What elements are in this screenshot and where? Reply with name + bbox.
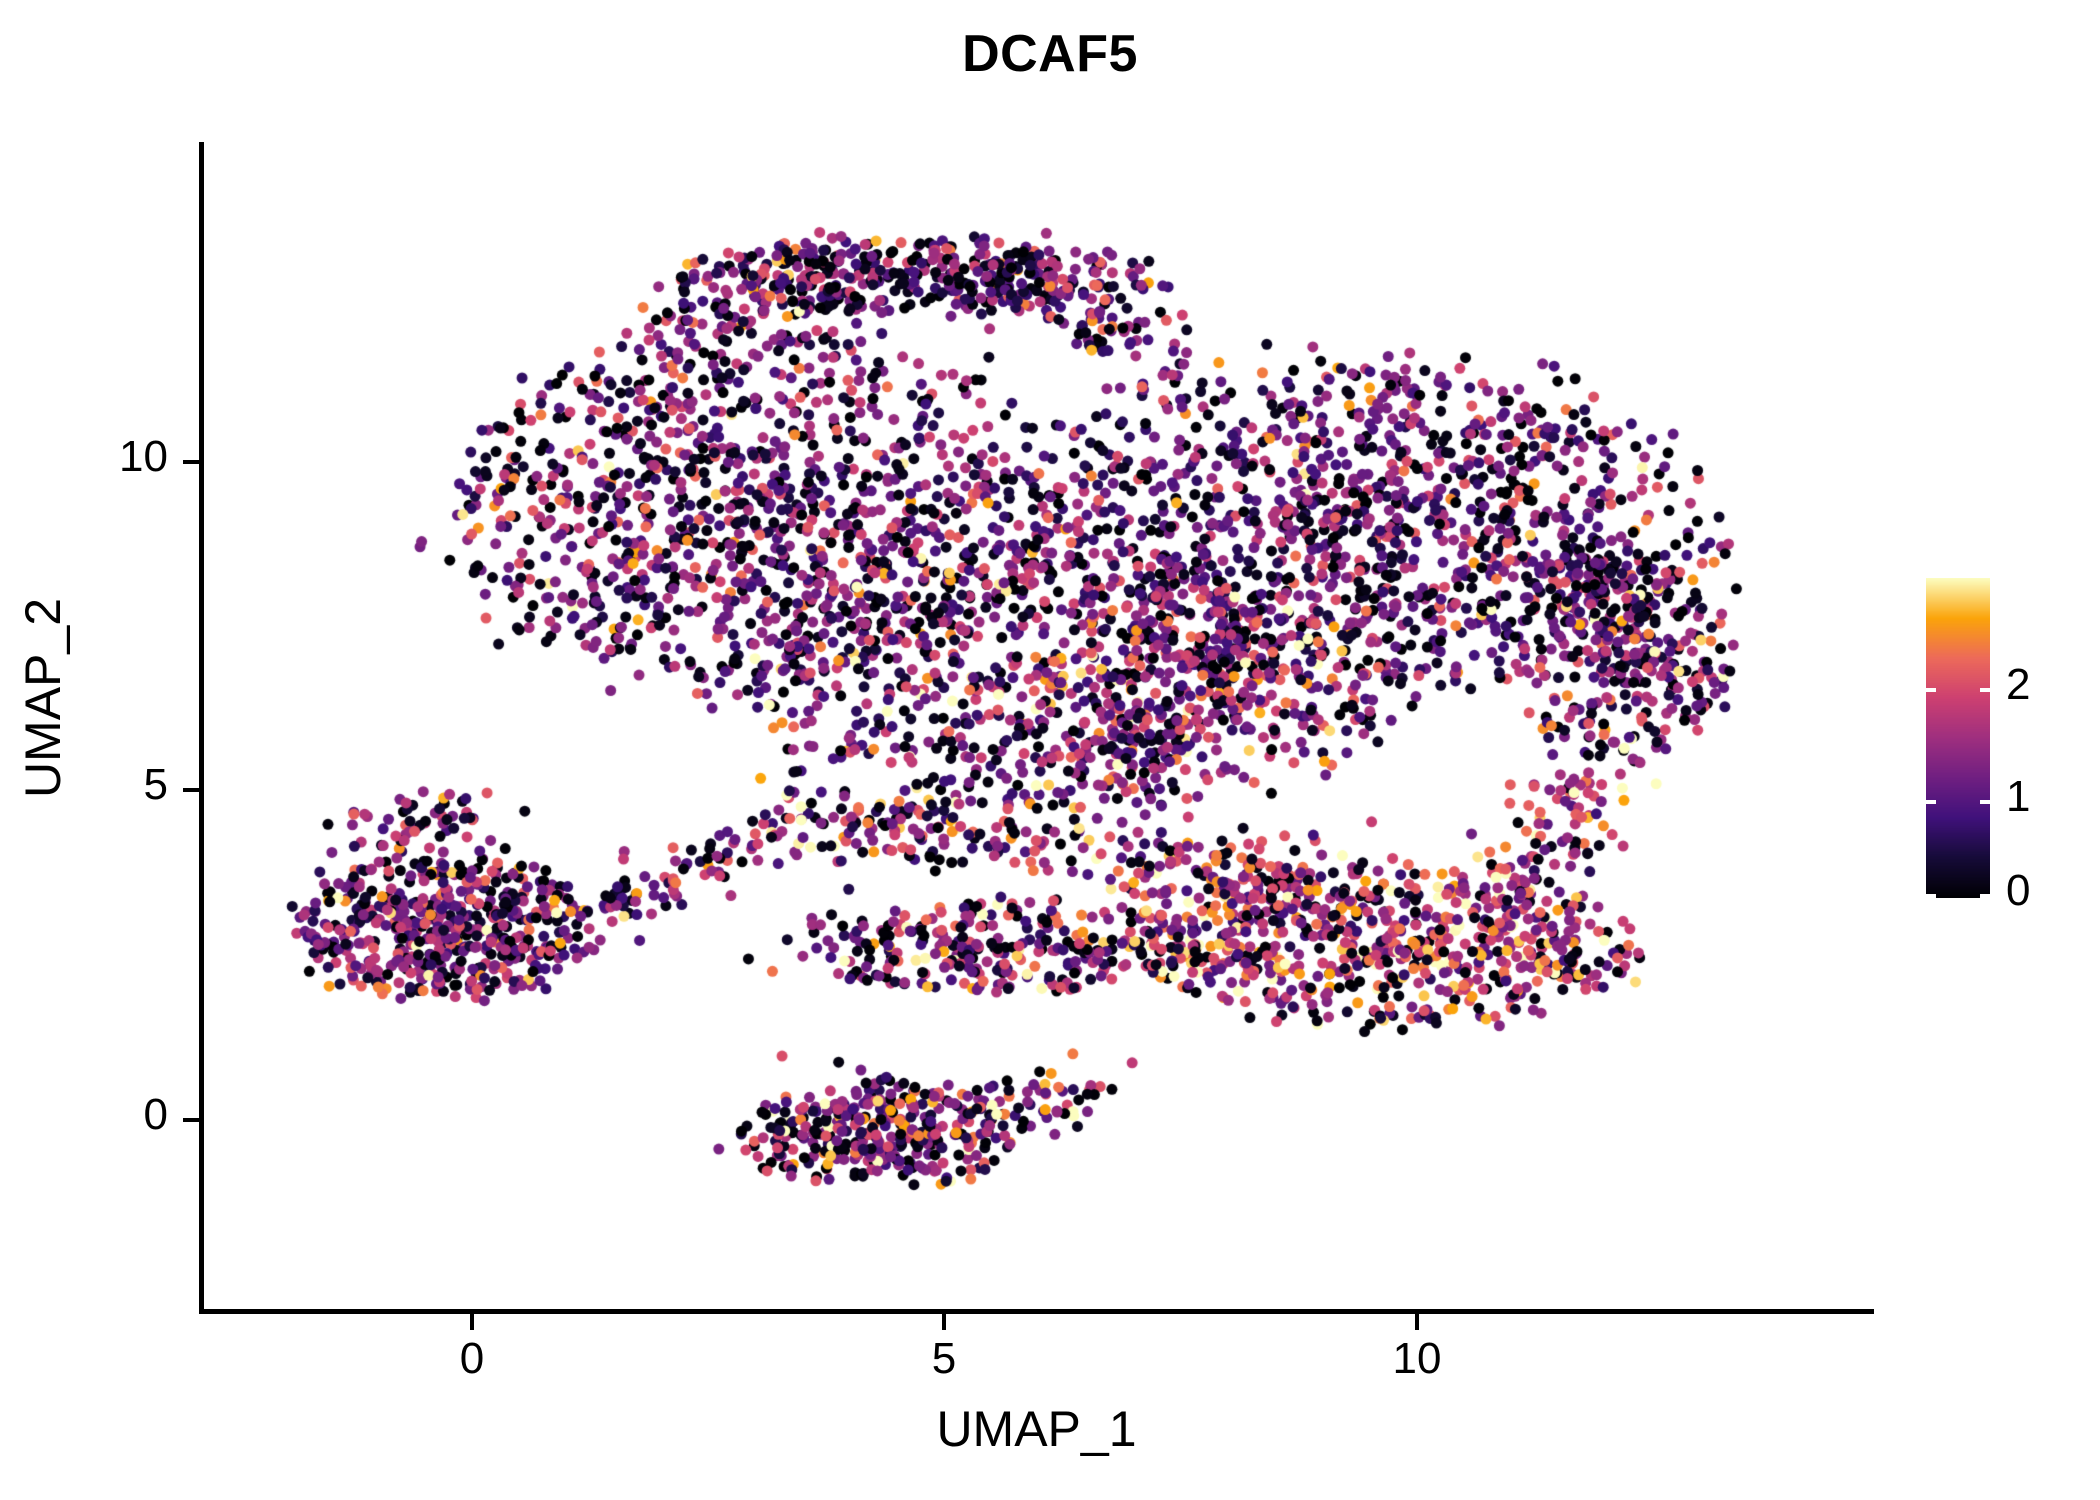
- x-tick-mark-5: [942, 1314, 946, 1330]
- colorbar-tick-2-right: [1980, 688, 1990, 692]
- x-axis-line: [199, 1309, 1874, 1314]
- page-title: DCAF5: [0, 26, 2100, 83]
- x-tick-label-10: 10: [1337, 1336, 1497, 1382]
- scatter-points-canvas: [203, 142, 1870, 1310]
- colorbar-gradient: [1926, 578, 1990, 898]
- colorbar-tick-0-right: [1980, 894, 1990, 898]
- x-tick-mark-10: [1415, 1314, 1419, 1330]
- colorbar-label-2: 2: [2006, 662, 2096, 708]
- colorbar-tick-2-left: [1926, 688, 1936, 692]
- x-tick-mark-0: [470, 1314, 474, 1330]
- y-tick-mark-10: [183, 460, 199, 464]
- colorbar-label-1: 1: [2006, 774, 2096, 820]
- y-axis-title-wrapper: UMAP_2: [16, 114, 76, 1282]
- x-axis-title: UMAP_1: [203, 1400, 1870, 1458]
- y-tick-mark-0: [183, 1118, 199, 1122]
- y-axis-line: [199, 142, 204, 1314]
- x-tick-label-0: 0: [392, 1336, 552, 1382]
- y-tick-mark-5: [183, 788, 199, 792]
- colorbar-tick-0-left: [1926, 894, 1936, 898]
- colorbar-label-0: 0: [2006, 868, 2096, 914]
- x-tick-label-5: 5: [864, 1336, 1024, 1382]
- scatter-plot-panel: [203, 142, 1870, 1310]
- colorbar-tick-1-right: [1980, 800, 1990, 804]
- legend-colorbar: 2 1 0: [1926, 578, 2096, 898]
- figure-root: DCAF5 0 5 10 10 5 0 UMAP_1 UMAP_2 2 1 0: [0, 0, 2100, 1500]
- colorbar-tick-1-left: [1926, 800, 1936, 804]
- y-axis-title: UMAP_2: [16, 114, 71, 1282]
